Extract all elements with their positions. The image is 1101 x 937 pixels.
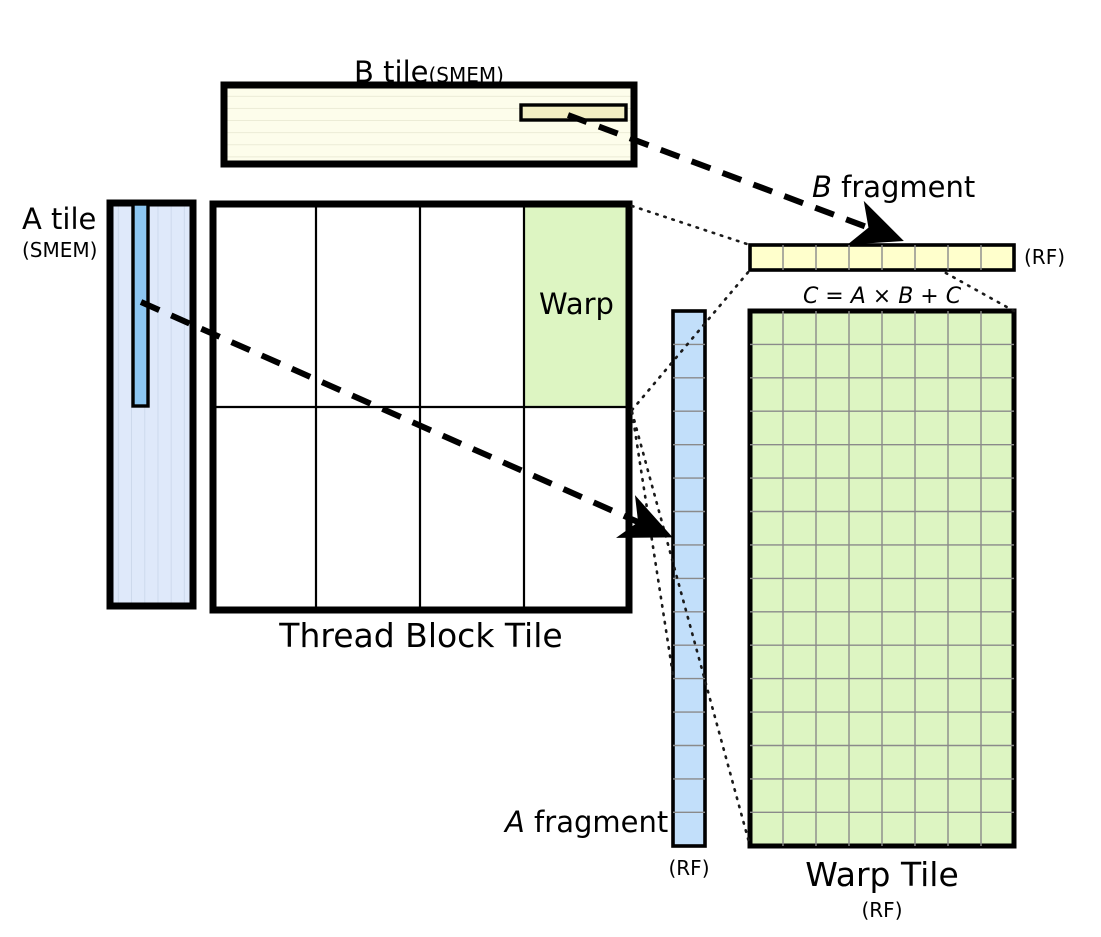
- warp-tile-group: [750, 311, 1014, 846]
- accumulate-equation-label: C = A × B + C: [750, 284, 1014, 309]
- a-tile-mem: (SMEM): [22, 238, 110, 262]
- warp-to-b-fragment-top-line: [632, 206, 750, 245]
- a-fragment-label-italic: A: [505, 805, 525, 839]
- b-fragment-group: [750, 245, 1014, 270]
- a-fragment-label: A fragment: [505, 805, 668, 839]
- b-fragment-rf-label: (RF): [1024, 245, 1065, 269]
- a-tile-box: [110, 203, 193, 606]
- warp-tile-rf: (RF): [750, 898, 1014, 922]
- b-fragment-label: B fragment: [812, 170, 975, 204]
- a-tile-group: [110, 203, 193, 606]
- b-fragment-label-italic: B: [812, 170, 832, 204]
- b-tile-title: B tile(SMEM): [274, 55, 584, 89]
- thread-block-tile-label: Thread Block Tile: [213, 616, 629, 655]
- thread-block-tile-group: [213, 204, 629, 610]
- gemm-tiling-diagram: [0, 0, 1101, 937]
- b-fragment-label-rest: fragment: [832, 170, 975, 204]
- b-tile-mem: (SMEM): [429, 63, 504, 87]
- b-tile-group: [224, 85, 634, 164]
- a-tile-name: A tile: [22, 202, 110, 236]
- b-tile-box: [224, 85, 634, 164]
- warp-tile-title: Warp Tile (RF): [750, 855, 1014, 922]
- a-fragment-rf-label: (RF): [639, 856, 739, 880]
- diagram-canvas: B tile(SMEM) A tile (SMEM) Warp Thread B…: [0, 0, 1101, 937]
- a-tile-title: A tile (SMEM): [22, 202, 110, 262]
- b-tile-name: B tile: [354, 55, 428, 89]
- warp-tile-name: Warp Tile: [750, 855, 1014, 894]
- a-fragment-label-rest: fragment: [525, 805, 668, 839]
- warp-cell-label: Warp: [524, 287, 629, 321]
